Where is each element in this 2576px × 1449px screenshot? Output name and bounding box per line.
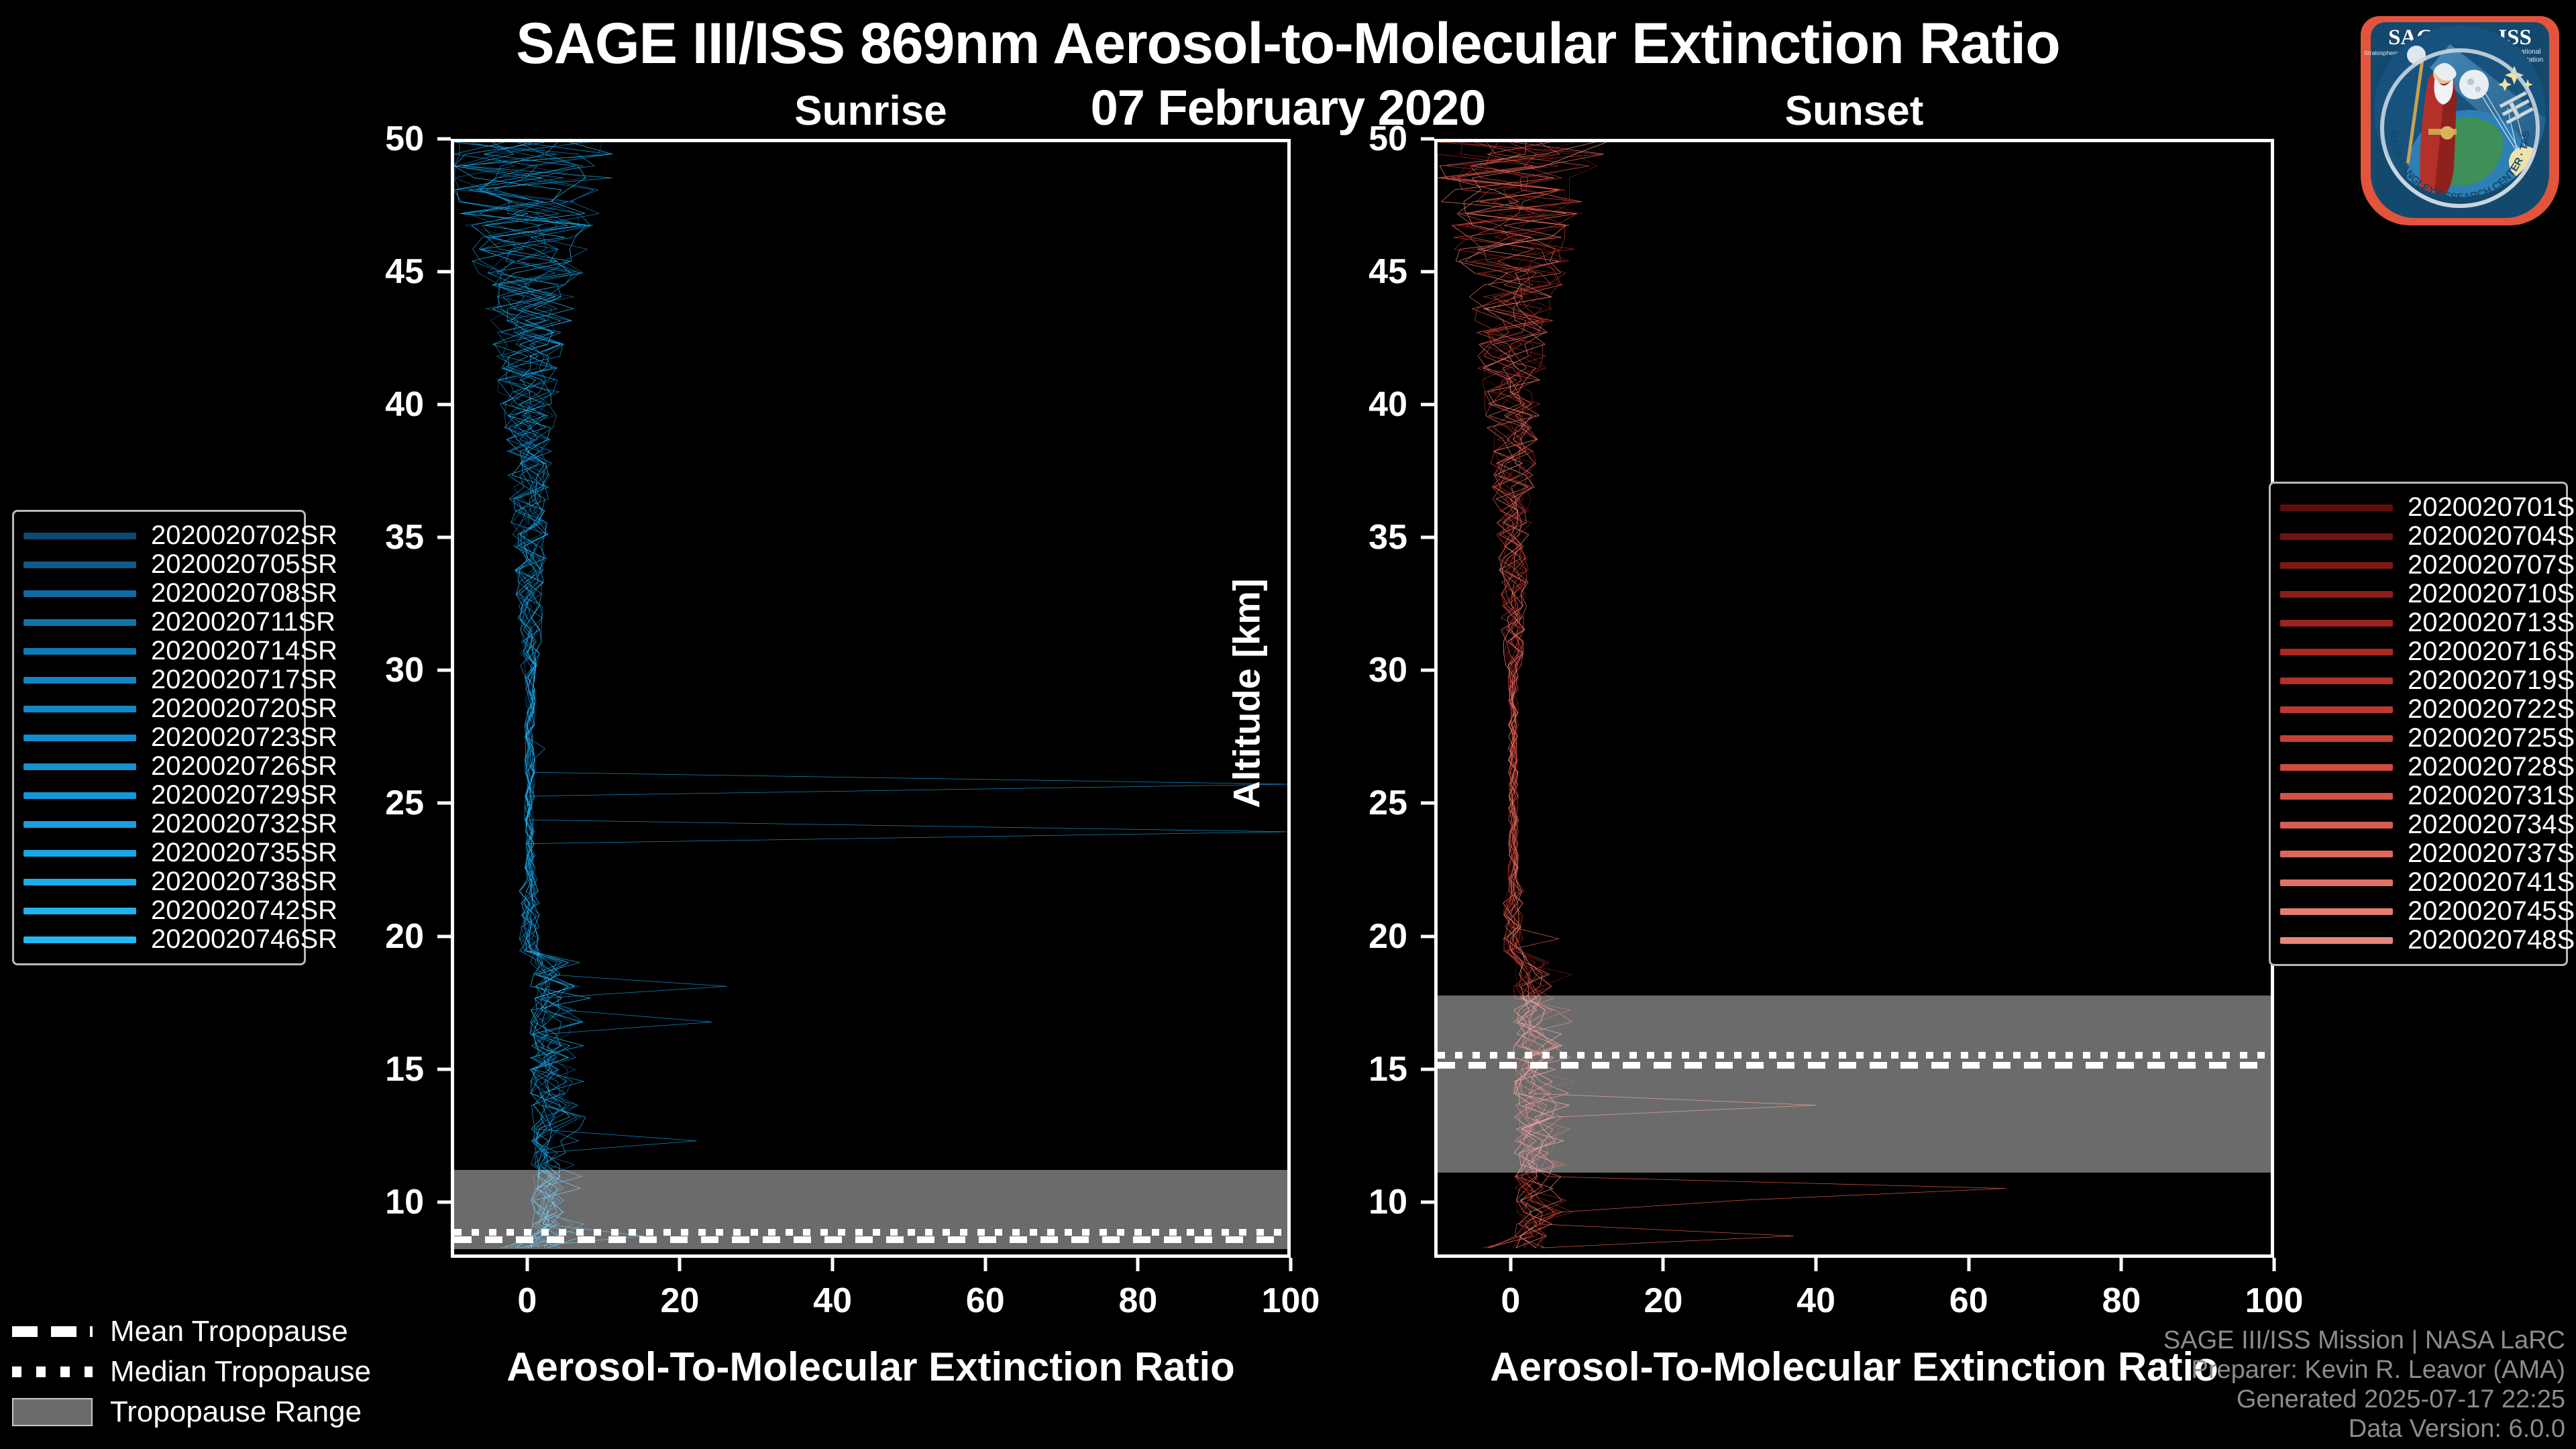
legend-item-label: 2020020713SS xyxy=(2408,608,2576,638)
legend-color-swatch xyxy=(23,879,136,885)
profile-line xyxy=(1438,142,1574,1248)
y-tick-mark xyxy=(437,934,451,938)
legend-item-label: 2020020748SS xyxy=(2408,925,2576,955)
y-tick-mark xyxy=(1421,536,1434,539)
legend-color-swatch xyxy=(2280,533,2393,540)
legend-item-label: 2020020717SR xyxy=(151,665,337,695)
legend-item[interactable]: 2020020707SS xyxy=(2280,551,2553,580)
profile-line xyxy=(454,142,612,1248)
credits-line: Preparer: Kevin R. Leavor (AMA) xyxy=(2163,1355,2565,1385)
legend-item[interactable]: 2020020720SR xyxy=(23,694,290,723)
x-tick-label: 100 xyxy=(1262,1281,1320,1321)
legend-item-label: 2020020738SR xyxy=(151,867,337,897)
profile-line xyxy=(464,142,612,1248)
tropopause-legend-item: Mean Tropopause xyxy=(12,1311,371,1352)
legend-item[interactable]: 2020020704SS xyxy=(2280,522,2553,551)
profile-line xyxy=(1438,142,1568,1248)
page-title: SAGE III/ISS 869nm Aerosol-to-Molecular … xyxy=(0,11,2576,77)
legend-color-swatch xyxy=(23,619,136,626)
legend-item-label: 2020020716SS xyxy=(2408,637,2576,667)
legend-item[interactable]: 2020020722SS xyxy=(2280,695,2553,724)
legend-item-label: 2020020741SS xyxy=(2408,867,2576,898)
legend-item-label: 2020020707SS xyxy=(2408,550,2576,580)
x-axis-label-left: Aerosol-To-Molecular Extinction Ratio xyxy=(451,1344,1291,1390)
legend-item[interactable]: 2020020723SR xyxy=(23,723,290,752)
y-tick-mark xyxy=(1421,1067,1434,1071)
plot-area-sunset xyxy=(1434,139,2274,1258)
legend-color-swatch xyxy=(23,936,136,943)
legend-item[interactable]: 2020020701SS xyxy=(2280,493,2553,522)
legend-sunset[interactable]: 2020020701SS2020020704SS2020020707SS2020… xyxy=(2269,482,2568,966)
y-tick-mark xyxy=(437,270,451,274)
legend-item[interactable]: 2020020735SR xyxy=(23,839,290,867)
tropopause-legend: Mean TropopauseMedian TropopauseTropopau… xyxy=(12,1311,371,1432)
profile-line xyxy=(473,142,610,1248)
x-tick-mark xyxy=(1289,1258,1293,1271)
median-tropopause-line xyxy=(1438,1052,2271,1059)
legend-color-swatch xyxy=(2280,504,2393,511)
y-tick-label: 35 xyxy=(317,517,424,557)
legend-item-label: 2020020710SS xyxy=(2408,579,2576,609)
y-tick-mark xyxy=(1421,270,1434,274)
x-tick-label: 20 xyxy=(1644,1281,1683,1321)
credits-block: SAGE III/ISS Mission | NASA LaRCPreparer… xyxy=(2163,1326,2565,1444)
legend-item-label: 2020020737SS xyxy=(2408,839,2576,869)
profile-lines-sunset xyxy=(1438,142,2271,1254)
legend-color-swatch xyxy=(23,735,136,741)
y-tick-mark xyxy=(1421,669,1434,672)
y-tick-mark xyxy=(1421,802,1434,805)
legend-item-label: 2020020704SS xyxy=(2408,521,2576,551)
x-tick-mark xyxy=(1815,1258,1818,1271)
profile-line xyxy=(454,142,588,1248)
y-tick-label: 30 xyxy=(317,650,424,690)
profile-line xyxy=(1475,142,1578,1248)
tropopause-legend-marker-band xyxy=(12,1398,93,1426)
y-tick-label: 15 xyxy=(317,1049,424,1089)
y-tick-mark xyxy=(1421,934,1434,938)
y-tick-mark xyxy=(437,669,451,672)
legend-color-swatch xyxy=(23,850,136,857)
y-tick-label: 20 xyxy=(1300,916,1407,957)
legend-item[interactable]: 2020020702SR xyxy=(23,521,290,550)
legend-item[interactable]: 2020020717SR xyxy=(23,665,290,694)
chart-canvas: SAGE III/ISS 869nm Aerosol-to-Molecular … xyxy=(0,0,2576,1449)
legend-item-label: 2020020701SS xyxy=(2408,492,2576,523)
profile-line xyxy=(454,142,1287,1248)
legend-color-swatch xyxy=(2280,937,2393,944)
x-tick-mark xyxy=(1136,1258,1140,1271)
legend-color-swatch xyxy=(2280,706,2393,713)
legend-item-label: 2020020731SS xyxy=(2408,781,2576,811)
legend-item[interactable]: 2020020714SR xyxy=(23,637,290,665)
legend-item-label: 2020020705SR xyxy=(151,549,337,580)
tropopause-legend-label: Mean Tropopause xyxy=(110,1315,348,1348)
sage-iii-iss-mission-patch-icon: SAGE III · ISS Stratospheric Aerosol and… xyxy=(2349,4,2571,225)
legend-item[interactable]: 2020020726SR xyxy=(23,752,290,781)
legend-item-label: 2020020735SR xyxy=(151,838,337,868)
y-tick-mark xyxy=(437,802,451,805)
legend-item-label: 2020020722SS xyxy=(2408,694,2576,724)
legend-item[interactable]: 2020020708SR xyxy=(23,579,290,608)
y-tick-label: 20 xyxy=(317,916,424,957)
x-tick-mark xyxy=(1967,1258,1970,1271)
tropopause-legend-item: Median Tropopause xyxy=(12,1352,371,1392)
legend-color-swatch xyxy=(2280,764,2393,771)
y-tick-label: 50 xyxy=(317,119,424,159)
legend-item-label: 2020020742SR xyxy=(151,896,337,926)
y-tick-label: 10 xyxy=(317,1182,424,1222)
legend-item[interactable]: 2020020713SS xyxy=(2280,608,2553,637)
x-tick-label: 0 xyxy=(1501,1281,1520,1321)
legend-color-swatch xyxy=(23,561,136,568)
legend-color-swatch xyxy=(2280,591,2393,598)
legend-color-swatch xyxy=(2280,908,2393,915)
legend-item[interactable]: 2020020748SS xyxy=(2280,926,2553,955)
legend-color-swatch xyxy=(23,908,136,914)
y-tick-label: 25 xyxy=(317,783,424,823)
legend-color-swatch xyxy=(2280,735,2393,742)
tropopause-legend-marker-dashed xyxy=(12,1326,93,1337)
x-tick-label: 0 xyxy=(517,1281,537,1321)
tropopause-legend-label: Median Tropopause xyxy=(110,1355,371,1389)
x-tick-label: 60 xyxy=(1949,1281,1988,1321)
legend-item[interactable]: 2020020731SS xyxy=(2280,782,2553,810)
legend-item[interactable]: 2020020716SS xyxy=(2280,637,2553,666)
legend-item[interactable]: 2020020732SR xyxy=(23,810,290,839)
legend-item-label: 2020020734SS xyxy=(2408,810,2576,840)
legend-item-label: 2020020711SR xyxy=(151,607,335,637)
mean-tropopause-line xyxy=(1438,1062,2271,1069)
y-tick-label: 40 xyxy=(1300,384,1407,425)
legend-item[interactable]: 2020020738SR xyxy=(23,867,290,896)
legend-color-swatch xyxy=(23,821,136,828)
legend-item-label: 2020020732SR xyxy=(151,809,337,839)
x-tick-mark xyxy=(678,1258,682,1271)
x-tick-mark xyxy=(831,1258,835,1271)
legend-item[interactable]: 2020020737SS xyxy=(2280,839,2553,868)
legend-item-label: 2020020725SS xyxy=(2408,723,2576,753)
legend-color-swatch xyxy=(23,590,136,597)
legend-item-label: 2020020708SR xyxy=(151,578,337,608)
profile-line xyxy=(454,142,584,1248)
y-tick-mark xyxy=(1421,138,1434,141)
y-tick-mark xyxy=(1421,403,1434,407)
y-tick-mark xyxy=(437,403,451,407)
legend-item[interactable]: 2020020741SS xyxy=(2280,868,2553,897)
tropopause-legend-item: Tropopause Range xyxy=(12,1392,371,1432)
y-tick-label: 45 xyxy=(317,252,424,292)
legend-item[interactable]: 2020020734SS xyxy=(2280,810,2553,839)
legend-item[interactable]: 2020020719SS xyxy=(2280,666,2553,695)
y-tick-label: 35 xyxy=(1300,517,1407,557)
legend-item-label: 2020020720SR xyxy=(151,694,337,724)
y-tick-label: 10 xyxy=(1300,1182,1407,1222)
legend-item-label: 2020020746SR xyxy=(151,924,337,955)
x-tick-mark xyxy=(1509,1258,1512,1271)
x-tick-mark xyxy=(983,1258,987,1271)
legend-color-swatch xyxy=(23,763,136,770)
mean-tropopause-line xyxy=(454,1236,1287,1243)
legend-color-swatch xyxy=(2280,649,2393,655)
legend-color-swatch xyxy=(2280,793,2393,800)
x-tick-mark xyxy=(1662,1258,1665,1271)
legend-color-swatch xyxy=(23,533,136,539)
legend-item[interactable]: 2020020746SR xyxy=(23,925,290,954)
x-tick-label: 40 xyxy=(813,1281,852,1321)
median-tropopause-line xyxy=(454,1229,1287,1236)
legend-item-label: 2020020723SR xyxy=(151,722,337,753)
legend-item[interactable]: 2020020705SR xyxy=(23,550,290,579)
legend-item[interactable]: 2020020745SS xyxy=(2280,897,2553,926)
legend-color-swatch xyxy=(2280,678,2393,684)
legend-item-label: 2020020729SR xyxy=(151,780,337,810)
y-tick-label: 15 xyxy=(1300,1049,1407,1089)
y-tick-label: 25 xyxy=(1300,783,1407,823)
x-tick-label: 20 xyxy=(661,1281,700,1321)
panel-label-sunset: Sunset xyxy=(1300,87,2408,135)
profile-line xyxy=(454,142,583,1248)
legend-item[interactable]: 2020020711SR xyxy=(23,608,290,637)
x-tick-mark xyxy=(2273,1258,2276,1271)
legend-color-swatch xyxy=(23,792,136,799)
legend-sunrise[interactable]: 2020020702SR2020020705SR2020020708SR2020… xyxy=(12,510,306,965)
profile-line xyxy=(1446,142,1572,1248)
credits-line: Generated 2025-07-17 22:25 xyxy=(2163,1385,2565,1414)
legend-color-swatch xyxy=(2280,851,2393,857)
legend-color-swatch xyxy=(2280,822,2393,828)
legend-color-swatch xyxy=(2280,620,2393,627)
legend-item-label: 2020020719SS xyxy=(2408,665,2576,696)
x-tick-mark xyxy=(2120,1258,2123,1271)
legend-item-label: 2020020726SR xyxy=(151,751,337,782)
tropopause-legend-marker-dotted xyxy=(12,1366,93,1377)
y-tick-mark xyxy=(437,1200,451,1203)
profile-lines-sunrise xyxy=(454,142,1287,1254)
y-tick-label: 40 xyxy=(317,384,424,425)
plot-area-sunrise xyxy=(451,139,1291,1258)
y-tick-label: 45 xyxy=(1300,252,1407,292)
legend-item[interactable]: 2020020725SS xyxy=(2280,724,2553,753)
legend-item-label: 2020020702SR xyxy=(151,521,337,551)
legend-color-swatch xyxy=(23,648,136,655)
tropopause-legend-label: Tropopause Range xyxy=(110,1395,362,1429)
panel-label-sunrise: Sunrise xyxy=(317,87,1425,135)
x-tick-label: 80 xyxy=(2102,1281,2141,1321)
profile-line xyxy=(463,142,586,1248)
y-tick-label: 30 xyxy=(1300,650,1407,690)
legend-color-swatch xyxy=(23,706,136,712)
x-tick-label: 100 xyxy=(2245,1281,2304,1321)
legend-color-swatch xyxy=(2280,562,2393,569)
credits-line: Data Version: 6.0.0 xyxy=(2163,1414,2565,1444)
legend-color-swatch xyxy=(2280,879,2393,886)
x-tick-label: 40 xyxy=(1796,1281,1835,1321)
x-tick-mark xyxy=(525,1258,529,1271)
y-tick-mark xyxy=(437,1067,451,1071)
profile-line xyxy=(1438,142,1572,1248)
y-tick-mark xyxy=(437,138,451,141)
legend-color-swatch xyxy=(23,677,136,684)
credits-line: SAGE III/ISS Mission | NASA LaRC xyxy=(2163,1326,2565,1355)
x-tick-label: 60 xyxy=(966,1281,1005,1321)
legend-item[interactable]: 2020020729SR xyxy=(23,781,290,810)
profile-line xyxy=(1442,142,1576,1248)
legend-item[interactable]: 2020020710SS xyxy=(2280,580,2553,608)
y-tick-mark xyxy=(1421,1200,1434,1203)
y-tick-mark xyxy=(437,536,451,539)
y-tick-label: 50 xyxy=(1300,119,1407,159)
legend-item-label: 2020020714SR xyxy=(151,636,337,666)
y-axis-label-right: Altitude [km] xyxy=(1225,506,1269,881)
legend-item-label: 2020020745SS xyxy=(2408,896,2576,926)
legend-item[interactable]: 2020020728SS xyxy=(2280,753,2553,782)
x-axis-label-right: Aerosol-To-Molecular Extinction Ratio xyxy=(1434,1344,2274,1390)
legend-item[interactable]: 2020020742SR xyxy=(23,896,290,925)
profile-line xyxy=(1452,142,2006,1248)
legend-item-label: 2020020728SS xyxy=(2408,752,2576,782)
x-tick-label: 80 xyxy=(1118,1281,1157,1321)
